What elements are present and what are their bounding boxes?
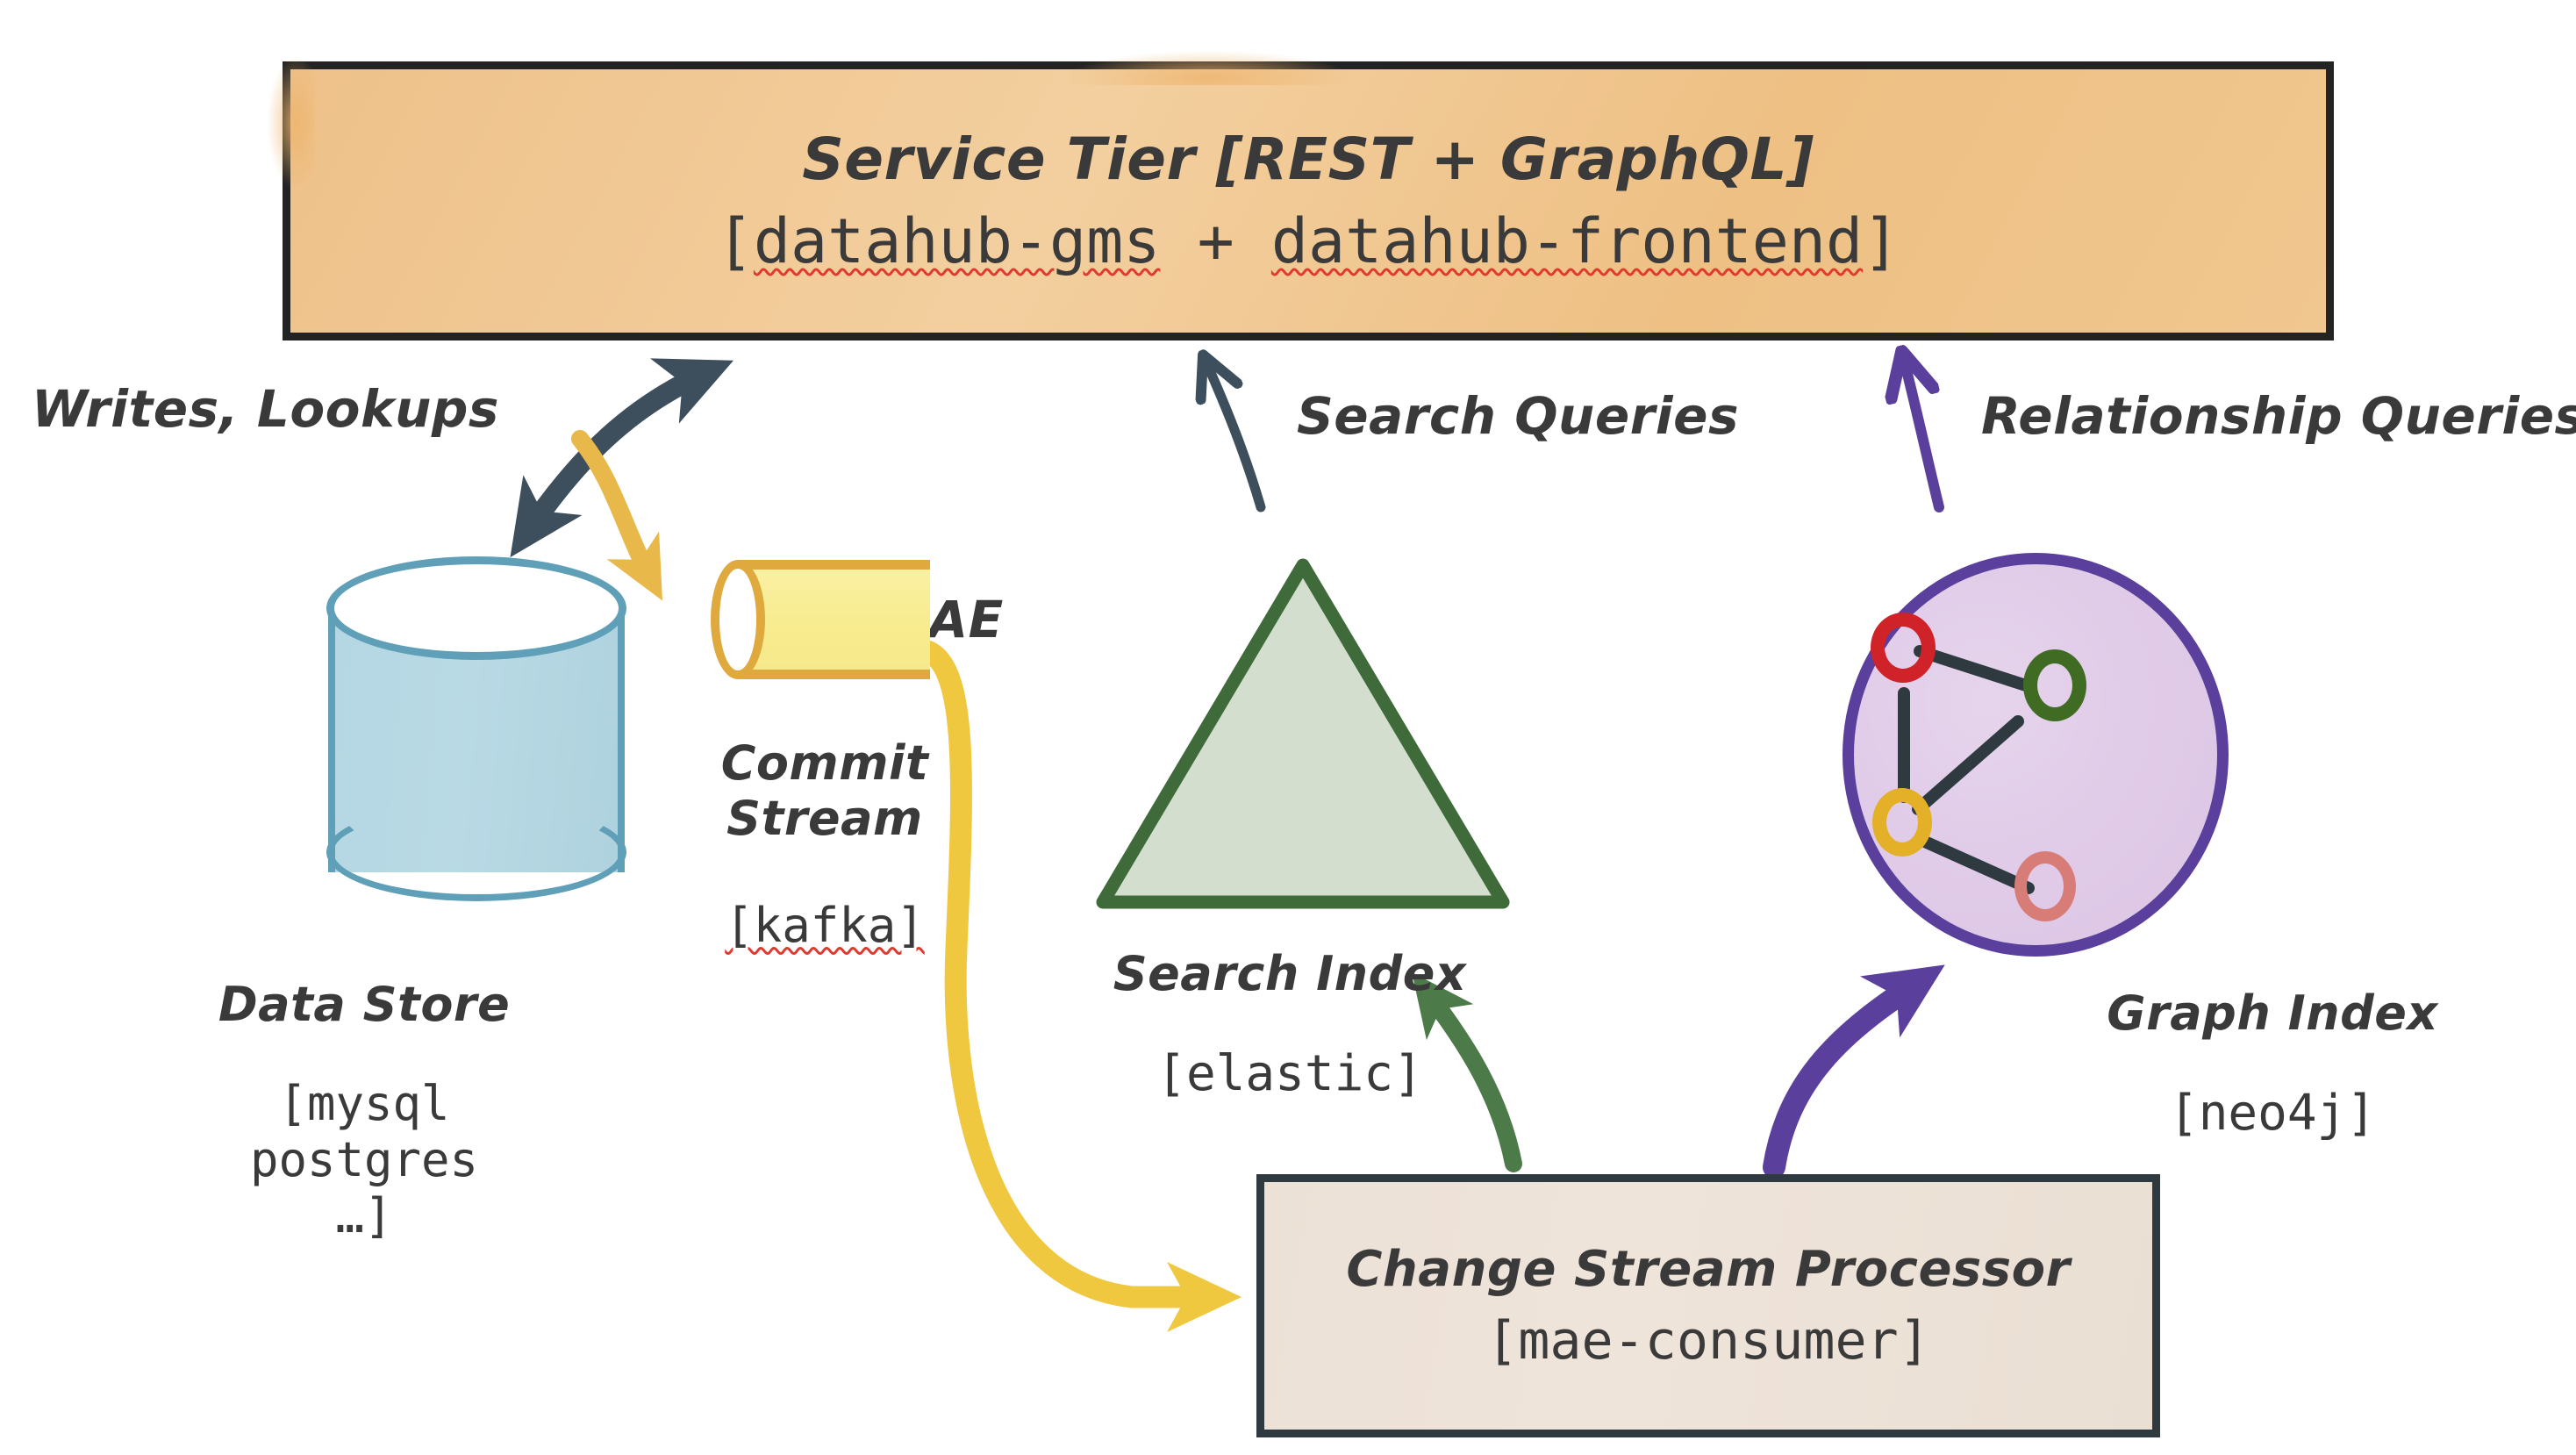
data-store-node[interactable]: [325, 553, 628, 904]
edge-processor-to-graph-index: [1774, 981, 1920, 1167]
commit-stream-title: Commit Stream: [693, 735, 956, 847]
datahub-frontend-token: datahub-frontend: [1271, 205, 1863, 277]
edge-label-relationship-queries: Relationship Queries: [1981, 386, 2576, 446]
plus-token: +: [1160, 205, 1270, 277]
bracket-close: ]: [1863, 205, 1900, 277]
triangle-shape: [1092, 553, 1513, 917]
edge-search-queries: [1209, 369, 1261, 507]
kafka-cylinder-body: [739, 560, 930, 679]
graph-node-red-icon: [1871, 613, 1936, 683]
graph-node-yellow-icon: [1872, 788, 1932, 857]
commit-stream-tech: [kafka]: [693, 898, 956, 954]
service-tier-title: Service Tier [REST + GraphQL]: [802, 125, 1814, 193]
service-tier-node[interactable]: Service Tier [REST + GraphQL] [datahub-g…: [283, 61, 2334, 340]
search-index-node[interactable]: [1092, 553, 1513, 917]
graph-node-green-icon: [2023, 649, 2086, 721]
data-store-title: Data Store: [167, 977, 562, 1033]
service-tier-tech: [datahub-gms + datahub-frontend]: [717, 205, 1900, 277]
edge-relationship-queries: [1906, 367, 1939, 507]
search-index-caption: Search Index [elastic]: [1044, 913, 1535, 1120]
cylinder-top-ellipse: [326, 556, 626, 660]
edge-label-writes-lookups: Writes, Lookups: [32, 379, 499, 439]
cylinder-bottom-ellipse: [326, 803, 626, 901]
edge-label-search-queries: Search Queries: [1297, 386, 1739, 446]
datahub-gms-token: datahub-gms: [754, 205, 1161, 277]
change-stream-processor-title: Change Stream Processor: [1346, 1241, 2070, 1298]
data-store-caption: Data Store [mysql postgres …]: [167, 943, 562, 1260]
graph-index-title: Graph Index: [2044, 986, 2501, 1042]
graph-node-salmon-icon: [2014, 851, 2076, 921]
commit-stream-caption: Commit Stream [kafka]: [693, 702, 956, 971]
search-index-title: Search Index: [1044, 946, 1535, 1002]
data-store-tech: [mysql postgres …]: [167, 1076, 562, 1244]
graph-index-tech: [neo4j]: [2044, 1085, 2501, 1143]
commit-stream-node[interactable]: [711, 560, 930, 679]
change-stream-processor-tech: [mae-consumer]: [1486, 1310, 1930, 1372]
bracket-open: [: [717, 205, 754, 277]
search-index-tech: [elastic]: [1044, 1045, 1535, 1103]
kafka-cylinder-cap-ellipse: [711, 560, 765, 679]
graph-index-node[interactable]: [1843, 553, 2229, 957]
change-stream-processor-node[interactable]: Change Stream Processor [mae-consumer]: [1256, 1174, 2160, 1437]
graph-index-caption: Graph Index [neo4j]: [2044, 952, 2501, 1159]
